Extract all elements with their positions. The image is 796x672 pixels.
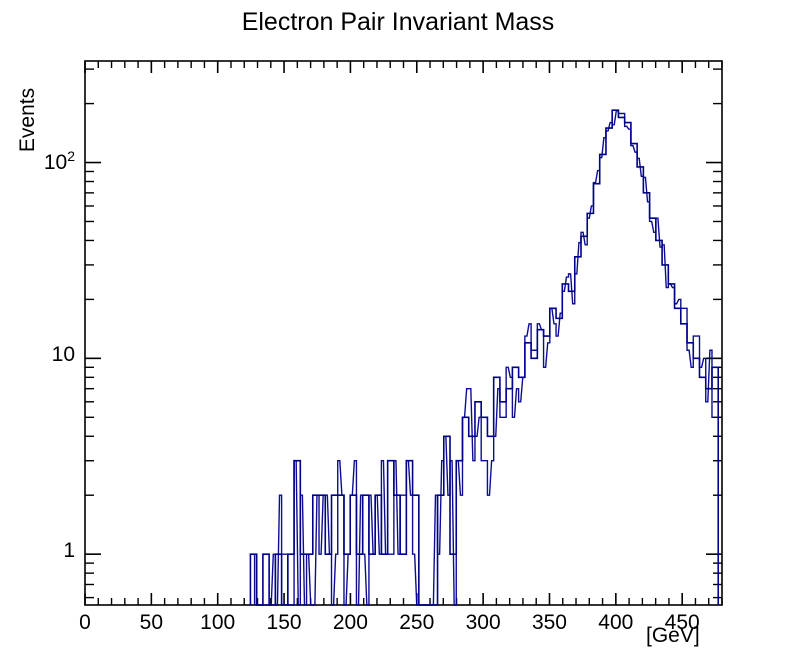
histogram-plot [0, 0, 796, 672]
axis-ticks [85, 61, 722, 605]
plot-frame [85, 61, 722, 605]
histogram-series [250, 110, 718, 605]
y-tick-label: 10 [0, 343, 75, 367]
x-tick-label: 450 [642, 611, 722, 635]
y-tick-label: 102 [0, 148, 75, 175]
y-tick-label: 1 [0, 539, 75, 563]
